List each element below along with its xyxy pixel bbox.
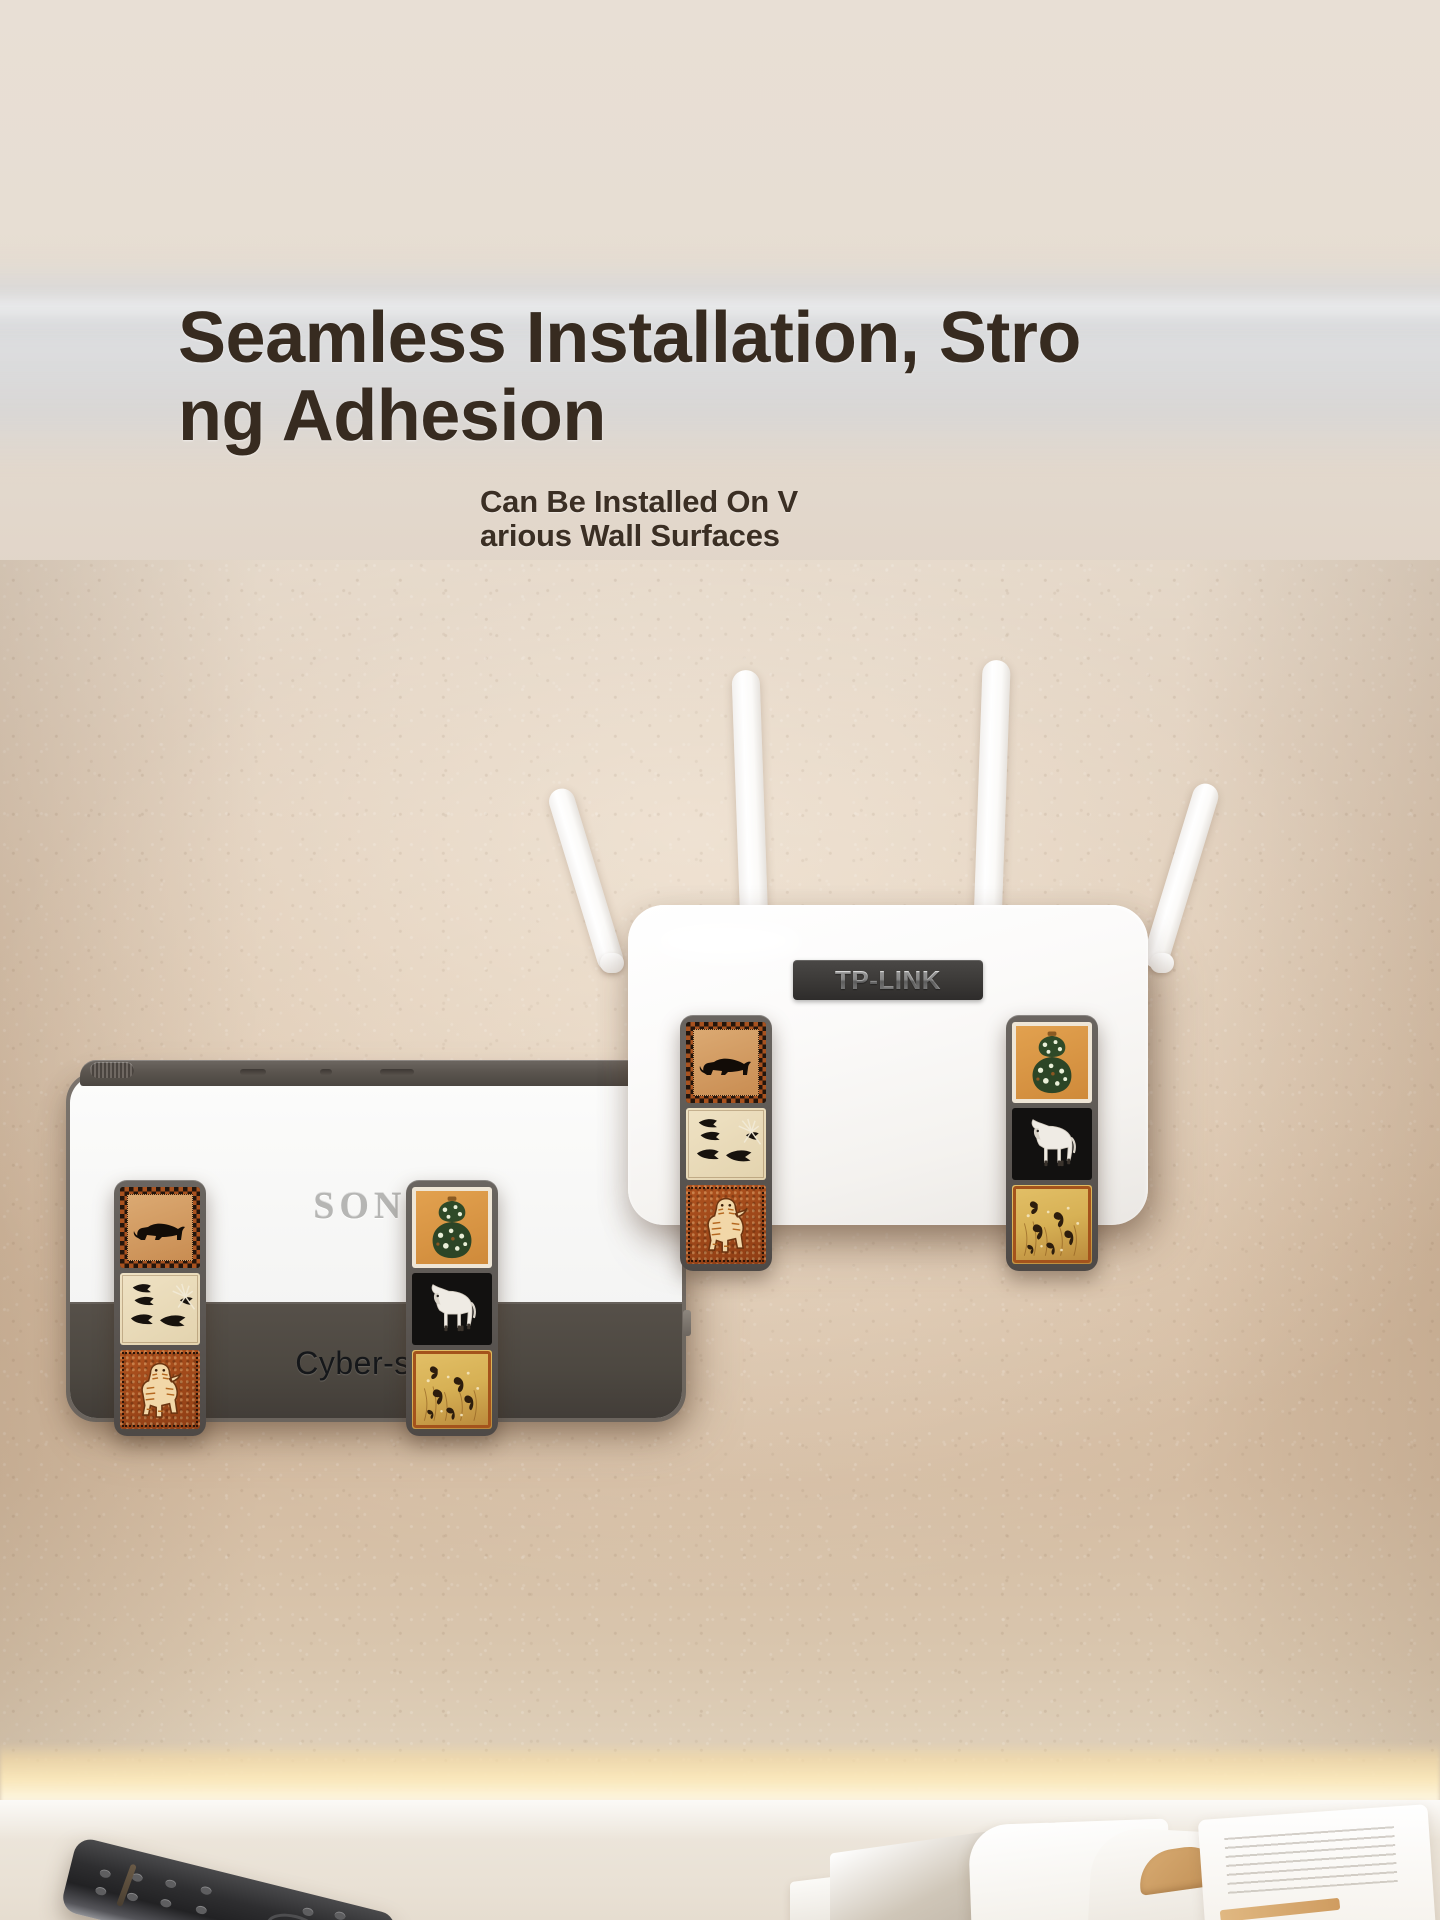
tiger-icon [126,1356,194,1423]
tplink-right-bracket[interactable] [1006,1015,1098,1271]
camera-button-icon [320,1069,332,1075]
butterflies-tile [1012,1185,1092,1264]
subheadline-line-1: Can Be Installed On V [480,485,1040,519]
white-horse-tile [412,1273,492,1346]
warm-glow-strip [0,1742,1440,1808]
remote-key-icon [334,1911,347,1920]
page-headline: Seamless Installation, Stro ng Adhesion [178,300,1288,456]
butterflies-icon [418,1356,486,1423]
swallows-tile [120,1273,200,1346]
standing-tiger-tile [120,1350,200,1429]
horse-icon [417,1278,487,1341]
white-horse-tile [1012,1108,1092,1181]
sony-left-bracket[interactable] [114,1180,206,1436]
black-panther-tile [686,1022,766,1103]
tplink-brand-label: TP-LINK [835,965,941,996]
camera-top-edge [80,1060,670,1086]
swallows-icon [120,1273,200,1346]
sony-camera-device: SONY Cyber-shot [66,1060,686,1435]
swallows-icon [686,1108,766,1181]
remote-key-icon [200,1885,213,1895]
panther-icon [132,1216,188,1246]
black-panther-tile [120,1187,200,1268]
remote-key-icon [95,1886,108,1896]
remote-key-icon [302,1907,315,1917]
tplink-brand-badge: TP-LINK [793,960,983,1000]
remote-key-icon [160,1898,173,1908]
book-text-lines [1224,1826,1397,1894]
scene: SONY Cyber-shot [0,0,1440,1920]
sony-right-bracket[interactable] [406,1180,498,1436]
camera-mode-dial-icon [90,1062,134,1078]
camera-side-port-icon [683,1310,691,1336]
gourd-vase-tile [412,1187,492,1268]
remote-key-icon [195,1905,208,1915]
page-subheadline: Can Be Installed On V arious Wall Surfac… [480,485,1040,553]
camera-button-icon [240,1069,266,1075]
gourd-vase-tile [1012,1022,1092,1103]
remote-key-icon [164,1879,177,1889]
remote-key-icon [126,1892,139,1902]
standing-tiger-tile [686,1185,766,1264]
router-highlight [652,921,802,961]
remote-dpad-ring-icon [263,1909,322,1920]
tplink-left-bracket[interactable] [680,1015,772,1271]
butterflies-icon [1018,1191,1086,1258]
router-hinge-left [600,953,624,973]
gourd-vase-icon [418,1193,486,1262]
gourd-vase-icon [1018,1028,1086,1097]
tplink-router-device: TP-LINK [628,905,1148,1225]
headline-line-1: Seamless Installation, Stro [178,300,1288,378]
camera-shutter-button-icon [380,1069,414,1075]
headline-line-2: ng Adhesion [178,378,1288,456]
router-hinge-right [1150,953,1174,973]
remote-key-icon [99,1868,112,1878]
subheadline-line-2: arious Wall Surfaces [480,519,1040,553]
horse-icon [1017,1113,1087,1176]
butterflies-tile [412,1350,492,1429]
open-book [790,1812,1430,1920]
tiger-icon [692,1191,760,1258]
swallows-tile [686,1108,766,1181]
panther-icon [698,1051,754,1081]
